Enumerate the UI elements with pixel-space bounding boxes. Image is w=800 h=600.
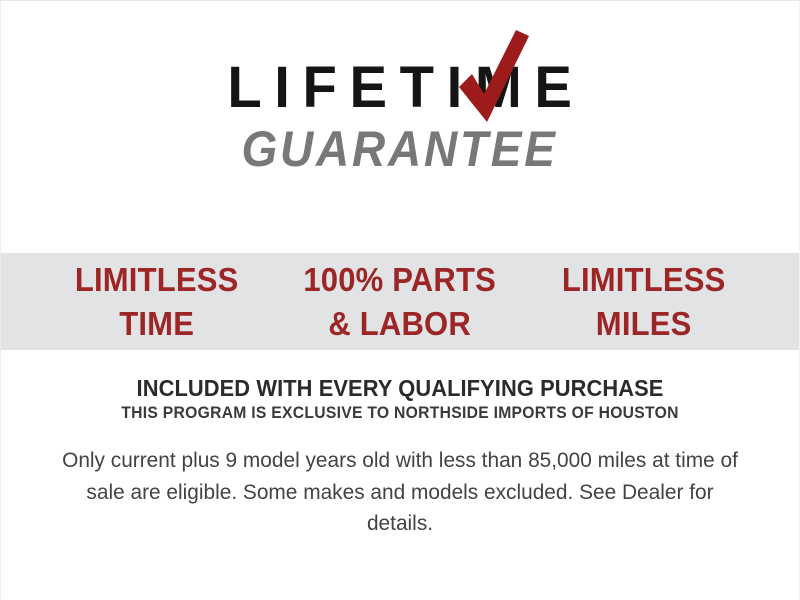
feature-line-2: & LABOR bbox=[286, 302, 515, 346]
logo-secondary-text: GUARANTEE bbox=[225, 124, 576, 174]
headline: INCLUDED WITH EVERY QUALIFYING PURCHASE bbox=[21, 375, 779, 402]
logo-lockup: LIFETIME GUARANTEE bbox=[209, 59, 590, 174]
logo-primary-text: LIFETIME bbox=[215, 59, 585, 117]
logo-block: LIFETIME GUARANTEE bbox=[1, 59, 799, 174]
disclaimer-text: Only current plus 9 model years old with… bbox=[52, 445, 748, 540]
subheadline: THIS PROGRAM IS EXCLUSIVE TO NORTHSIDE I… bbox=[21, 404, 779, 423]
feature-line-1: LIMITLESS bbox=[75, 261, 239, 298]
feature-line-1: 100% PARTS bbox=[304, 261, 497, 298]
feature-column-parts-labor: 100% PARTS & LABOR bbox=[286, 258, 515, 345]
feature-line-2: MILES bbox=[529, 302, 758, 346]
feature-column-miles: LIMITLESS MILES bbox=[529, 258, 758, 345]
feature-column-time: LIMITLESS TIME bbox=[42, 258, 271, 345]
feature-band: LIMITLESS TIME 100% PARTS & LABOR LIMITL… bbox=[1, 253, 799, 350]
feature-line-1: LIMITLESS bbox=[561, 261, 725, 298]
feature-line-2: TIME bbox=[42, 302, 271, 346]
lifetime-guarantee-ad: LIFETIME GUARANTEE LIMITLESS TIME 100% P… bbox=[0, 0, 800, 600]
